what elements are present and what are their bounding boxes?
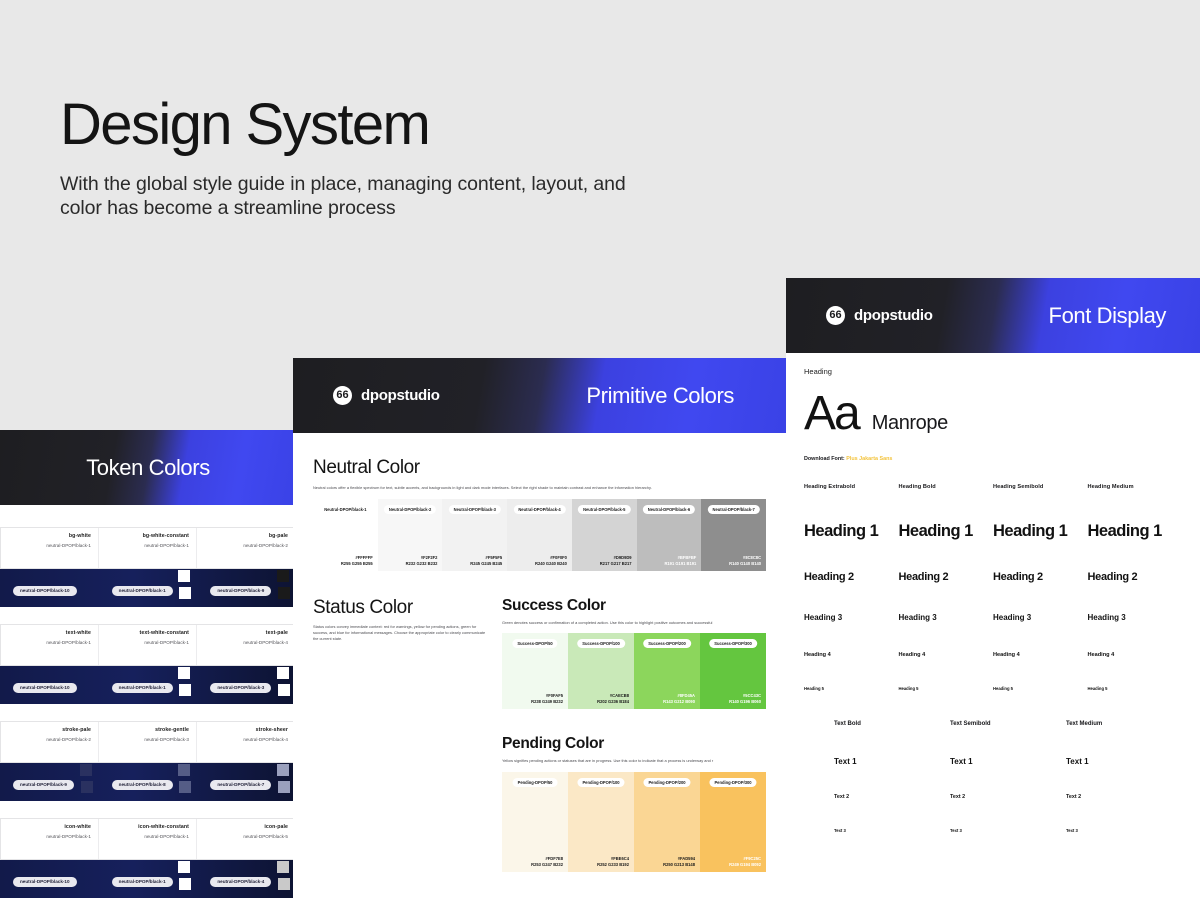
text-weight-label: Text Semibold (950, 721, 1066, 727)
swatch-values: #F0F0F0R240 G240 B240 (535, 555, 567, 567)
text-sample: Text 3 (1066, 828, 1182, 833)
success-color-desc: Green denotes success or confirmation of… (502, 620, 766, 626)
token-name: stroke-sheer (204, 727, 288, 733)
heading-type-grid: Heading ExtraboldHeading 1Heading 2Headi… (804, 484, 1182, 691)
success-swatch-row: Success-DPOP/50#F0FAF5R238 G249 B232Succ… (502, 633, 766, 709)
heading-sample: Heading 5 (993, 686, 1088, 691)
token-swatch[interactable]: stroke-paleneutral-DPOP/black-2 (1, 722, 99, 762)
color-swatch[interactable]: Pending-DPOP/300#F9C25CR249 G194 B092 (700, 772, 766, 872)
swatch-label: Neutral-DPOP/black-4 (513, 505, 565, 514)
swatch-rgb: R140 G140 B140 (729, 561, 761, 567)
token-name: bg-white-constant (106, 533, 189, 539)
neutral-color-desc: Neutral colors offer a flexible spectrum… (313, 485, 766, 491)
token-pill: neutral-DPOP/black-1 (112, 877, 173, 887)
token-pill: neutral-DPOP/black-8 (112, 780, 173, 790)
swatch-label: Success-DPOP/50 (512, 639, 557, 648)
token-name: icon-white (8, 824, 91, 830)
swatch-label: Neutral-DPOP/black-2 (384, 505, 436, 514)
swatch-label: Pending-DPOP/50 (513, 778, 558, 787)
text-sample: Text 3 (950, 828, 1066, 833)
token-reference: neutral-DPOP/black-5 (204, 834, 288, 839)
token-reference: neutral-DPOP/black-1 (8, 640, 91, 645)
color-swatch[interactable]: Success-DPOP/100#CAECB8R202 G236 B184 (568, 633, 634, 709)
primitive-panel-title: Primitive Colors (586, 383, 734, 409)
token-pill: neutral-DPOP/black-9 (13, 780, 74, 790)
font-kicker: Heading (804, 367, 1182, 376)
color-swatch[interactable]: Neutral-DPOP/black-4#F0F0F0R240 G240 B24… (507, 499, 572, 571)
swatch-rgb: R245 G245 B245 (470, 561, 502, 567)
token-reference: neutral-DPOP/black-1 (8, 834, 91, 839)
token-swatch-dark[interactable]: neutral-DPOP/black-9 (0, 768, 99, 796)
swatch-rgb: R232 G232 B232 (406, 561, 438, 567)
token-name: stroke-gentle (106, 727, 189, 733)
token-name: stroke-pale (8, 727, 91, 733)
status-color-title: Status Color (313, 597, 488, 619)
token-panel-title: Token Colors (86, 455, 210, 481)
swatch-label: Success-DPOP/100 (577, 639, 625, 648)
status-color-desc: Status colors convey immediate context: … (313, 624, 488, 642)
swatch-rgb: R252 G233 B192 (597, 862, 629, 868)
brand-name: dpopstudio (361, 387, 440, 404)
text-sample: Text 2 (1066, 794, 1182, 800)
heading-sample: Heading 3 (899, 613, 994, 622)
quote-icon: 66 (826, 306, 845, 325)
swatch-values: #CAECB8R202 G236 B184 (597, 693, 629, 705)
swatch-values: #F0FAF5R238 G249 B232 (531, 693, 563, 705)
swatch-rgb: R255 G255 B255 (341, 561, 373, 567)
heading-sample: Heading 1 (899, 522, 994, 541)
heading-weight-label: Heading Medium (1088, 484, 1183, 490)
swatch-rgb: R240 G240 B240 (535, 561, 567, 567)
swatch-rgb: R250 G213 B148 (663, 862, 695, 868)
token-name: bg-white (8, 533, 91, 539)
pending-color-desc: Yellow signifies pending actions or stat… (502, 758, 766, 764)
token-swatch[interactable]: stroke-gentleneutral-DPOP/black-3 (99, 722, 197, 762)
token-row-dark: neutral-DPOP/black-10neutral-DPOP/black-… (0, 666, 296, 704)
success-color-title: Success Color (502, 597, 766, 615)
token-group: stroke-paleneutral-DPOP/black-2stroke-ge… (0, 721, 296, 801)
color-swatch[interactable]: Neutral-DPOP/black-7#8C8C8CR140 G140 B14… (701, 499, 766, 571)
token-group-list: bg-whiteneutral-DPOP/black-1bg-white-con… (0, 505, 296, 898)
swatch-values: #F5F5F5R245 G245 B245 (470, 555, 502, 567)
swatch-values: #BFBFBFR191 G191 B191 (664, 555, 696, 567)
heading-sample: Heading 2 (899, 571, 994, 583)
text-sample: Text 2 (834, 794, 950, 800)
token-swatch-dark[interactable]: neutral-DPOP/black-7 (197, 768, 296, 796)
swatch-label: Pending-DPOP/100 (577, 778, 624, 787)
token-group: bg-whiteneutral-DPOP/black-1bg-white-con… (0, 527, 296, 607)
token-row-dark: neutral-DPOP/black-9neutral-DPOP/black-8… (0, 763, 296, 801)
token-swatch-dark[interactable]: neutral-DPOP/black-4 (197, 865, 296, 893)
download-font-row: Download Font: Plus Jakarta Sans (804, 456, 1182, 462)
primitive-panel-header: 66 dpopstudio Primitive Colors (293, 358, 786, 433)
heading-weight-label: Heading Extrabold (804, 484, 899, 490)
heading-sample: Heading 4 (1088, 652, 1183, 658)
token-chip (179, 878, 191, 890)
token-name: icon-white-constant (106, 824, 189, 830)
swatch-label: Neutral-DPOP/black-1 (319, 505, 371, 514)
color-swatch[interactable]: Neutral-DPOP/black-5#D9D9D9R217 G217 B21… (572, 499, 637, 571)
hero-block: Design System With the global style guid… (60, 95, 720, 221)
token-row-light: stroke-paleneutral-DPOP/black-2stroke-ge… (0, 721, 296, 763)
token-reference: neutral-DPOP/black-2 (204, 543, 288, 548)
token-row-dark: neutral-DPOP/black-10neutral-DPOP/black-… (0, 860, 296, 898)
heading-type-column: Heading MediumHeading 1Heading 2Heading … (1088, 484, 1183, 691)
swatch-label: Pending-DPOP/200 (643, 778, 690, 787)
token-reference: neutral-DPOP/black-1 (106, 640, 189, 645)
token-swatch[interactable]: stroke-sheerneutral-DPOP/black-4 (197, 722, 295, 762)
text-sample: Text 1 (950, 757, 1066, 766)
panel-font-display: 66 dpopstudio Font Display Heading Aa Ma… (786, 278, 1200, 907)
swatch-values: #FFFFFFR255 G255 B255 (341, 555, 373, 567)
swatch-rgb: R202 G236 B184 (597, 699, 629, 705)
token-pill: neutral-DPOP/black-9 (210, 586, 271, 596)
brand-name: dpopstudio (854, 307, 933, 324)
swatch-values: #5CC43CR140 G196 B060 (729, 693, 761, 705)
token-row-dark: neutral-DPOP/black-10neutral-DPOP/black-… (0, 569, 296, 607)
token-reference: neutral-DPOP/black-1 (106, 834, 189, 839)
token-swatch-dark[interactable]: neutral-DPOP/black-1 (99, 671, 198, 699)
heading-type-column: Heading ExtraboldHeading 1Heading 2Headi… (804, 484, 899, 691)
download-font-link[interactable]: Plus Jakarta Sans (846, 456, 892, 462)
token-swatch-dark[interactable]: neutral-DPOP/black-10 (0, 865, 99, 893)
color-swatch[interactable]: Pending-DPOP/200#FAD594R250 G213 B148 (634, 772, 700, 872)
swatch-values: #8FD45AR143 G212 B090 (663, 693, 695, 705)
token-chip (278, 684, 290, 696)
token-group: text-whiteneutral-DPOP/black-1text-white… (0, 624, 296, 704)
heading-sample: Heading 4 (993, 652, 1088, 658)
font-specimen: Aa Manrope (804, 390, 1182, 438)
token-swatch-dark[interactable]: neutral-DPOP/black-10 (0, 671, 99, 699)
pending-color-title: Pending Color (502, 735, 766, 753)
swatch-rgb: R140 G196 B060 (729, 699, 761, 705)
color-swatch[interactable]: Neutral-DPOP/black-2#F2F2F2R232 G232 B23… (378, 499, 443, 571)
swatch-label: Neutral-DPOP/black-6 (643, 505, 695, 514)
swatch-values: #FAD594R250 G213 B148 (663, 856, 695, 868)
heading-sample: Heading 5 (804, 686, 899, 691)
swatch-label: Success-DPOP/300 (709, 639, 757, 648)
swatch-rgb: R238 G249 B232 (531, 699, 563, 705)
token-chip (179, 781, 191, 793)
swatch-label: Neutral-DPOP/black-5 (578, 505, 630, 514)
token-swatch[interactable]: text-whiteneutral-DPOP/black-1 (1, 625, 99, 665)
token-reference: neutral-DPOP/black-2 (8, 737, 91, 742)
token-chip (278, 781, 290, 793)
color-swatch[interactable]: Pending-DPOP/50#FDF7E8R253 G247 B232 (502, 772, 568, 872)
swatch-rgb: R217 G217 B217 (600, 561, 632, 567)
token-name: text-white-constant (106, 630, 189, 636)
token-swatch-dark[interactable]: neutral-DPOP/black-1 (99, 574, 198, 602)
color-swatch[interactable]: Neutral-DPOP/black-3#F5F5F5R245 G245 B24… (442, 499, 507, 571)
font-glyph: Aa (804, 390, 859, 438)
brand-logo: 66 dpopstudio (333, 386, 440, 405)
heading-sample: Heading 1 (804, 522, 899, 541)
page-title: Design System (60, 95, 720, 156)
font-panel-header: 66 dpopstudio Font Display (786, 278, 1200, 353)
text-type-column: Text MediumText 1Text 2Text 3 (1066, 721, 1182, 833)
token-name: bg-pale (204, 533, 288, 539)
token-reference: neutral-DPOP/black-3 (106, 737, 189, 742)
token-reference: neutral-DPOP/black-1 (8, 543, 91, 548)
token-row-light: icon-whiteneutral-DPOP/black-1icon-white… (0, 818, 296, 860)
heading-sample: Heading 3 (1088, 613, 1183, 622)
color-swatch[interactable]: Success-DPOP/50#F0FAF5R238 G249 B232 (502, 633, 568, 709)
token-name: text-white (8, 630, 91, 636)
token-pill: neutral-DPOP/black-1 (112, 586, 173, 596)
text-type-column: Text SemiboldText 1Text 2Text 3 (950, 721, 1066, 833)
color-swatch[interactable]: Success-DPOP/300#5CC43CR140 G196 B060 (700, 633, 766, 709)
token-chip (278, 587, 290, 599)
heading-sample: Heading 2 (1088, 571, 1183, 583)
token-swatch[interactable]: bg-white-constantneutral-DPOP/black-1 (99, 528, 197, 568)
text-sample: Text 1 (834, 757, 950, 766)
swatch-values: #F2F2F2R232 G232 B232 (406, 555, 438, 567)
swatch-rgb: R143 G212 B090 (663, 699, 695, 705)
token-swatch-dark[interactable]: neutral-DPOP/black-1 (99, 865, 198, 893)
token-pill: neutral-DPOP/black-10 (13, 586, 77, 596)
swatch-values: #F9C25CR249 G194 B092 (729, 856, 761, 868)
swatch-values: #D9D9D9R217 G217 B217 (600, 555, 632, 567)
download-font-label: Download Font: (804, 456, 845, 462)
token-swatch-dark[interactable]: neutral-DPOP/black-8 (99, 768, 198, 796)
swatch-label: Success-DPOP/200 (643, 639, 691, 648)
token-panel-header: Token Colors (0, 430, 296, 505)
heading-weight-label: Heading Bold (899, 484, 994, 490)
text-weight-label: Text Medium (1066, 721, 1182, 727)
color-swatch[interactable]: Pending-DPOP/100#FBE6C4R252 G233 B192 (568, 772, 634, 872)
text-weight-label: Text Bold (834, 721, 950, 727)
font-panel-title: Font Display (1049, 303, 1166, 329)
token-reference: neutral-DPOP/black-4 (204, 737, 288, 742)
pending-swatch-row: Pending-DPOP/50#FDF7E8R253 G247 B232Pend… (502, 772, 766, 872)
quote-icon: 66 (333, 386, 352, 405)
token-row-light: text-whiteneutral-DPOP/black-1text-white… (0, 624, 296, 666)
token-swatch[interactable]: bg-paleneutral-DPOP/black-2 (197, 528, 295, 568)
token-row-light: bg-whiteneutral-DPOP/black-1bg-white-con… (0, 527, 296, 569)
heading-sample: Heading 4 (804, 652, 899, 658)
heading-sample: Heading 2 (993, 571, 1088, 583)
token-name: icon-pale (204, 824, 288, 830)
token-pill: neutral-DPOP/black-7 (210, 780, 271, 790)
token-reference: neutral-DPOP/black-4 (204, 640, 288, 645)
color-swatch[interactable]: Neutral-DPOP/black-6#BFBFBFR191 G191 B19… (637, 499, 702, 571)
brand-logo: 66 dpopstudio (826, 306, 933, 325)
text-type-grid: Text BoldText 1Text 2Text 3Text Semibold… (804, 721, 1182, 833)
heading-sample: Heading 5 (899, 686, 994, 691)
heading-type-column: Heading BoldHeading 1Heading 2Heading 3H… (899, 484, 994, 691)
token-swatch[interactable]: icon-white-constantneutral-DPOP/black-1 (99, 819, 197, 859)
heading-type-column: Heading SemiboldHeading 1Heading 2Headin… (993, 484, 1088, 691)
swatch-values: #FBE6C4R252 G233 B192 (597, 856, 629, 868)
token-group: icon-whiteneutral-DPOP/black-1icon-white… (0, 818, 296, 898)
text-sample: Text 2 (950, 794, 1066, 800)
token-chip (179, 684, 191, 696)
token-pill: neutral-DPOP/black-4 (210, 877, 271, 887)
swatch-label: Neutral-DPOP/black-3 (449, 505, 501, 514)
swatch-rgb: R253 G247 B232 (531, 862, 563, 868)
neutral-color-title: Neutral Color (313, 457, 766, 479)
heading-sample: Heading 4 (899, 652, 994, 658)
token-pill: neutral-DPOP/black-10 (13, 877, 77, 887)
token-swatch-dark[interactable]: neutral-DPOP/black-3 (197, 671, 296, 699)
swatch-values: #FDF7E8R253 G247 B232 (531, 856, 563, 868)
panel-primitive-colors: 66 dpopstudio Primitive Colors Neutral C… (293, 358, 786, 907)
heading-sample: Heading 1 (1088, 522, 1183, 541)
swatch-label: Pending-DPOP/300 (709, 778, 756, 787)
token-swatch[interactable]: icon-paleneutral-DPOP/black-5 (197, 819, 295, 859)
heading-sample: Heading 1 (993, 522, 1088, 541)
color-swatch[interactable]: Success-DPOP/200#8FD45AR143 G212 B090 (634, 633, 700, 709)
token-swatch-dark[interactable]: neutral-DPOP/black-10 (0, 574, 99, 602)
swatch-rgb: R249 G194 B092 (729, 862, 761, 868)
token-pill: neutral-DPOP/black-1 (112, 683, 173, 693)
token-chip (278, 878, 290, 890)
swatch-values: #8C8C8CR140 G140 B140 (729, 555, 761, 567)
token-swatch[interactable]: text-white-constantneutral-DPOP/black-1 (99, 625, 197, 665)
color-swatch[interactable]: Neutral-DPOP/black-1#FFFFFFR255 G255 B25… (313, 499, 378, 571)
swatch-label: Neutral-DPOP/black-7 (708, 505, 760, 514)
token-reference: neutral-DPOP/black-1 (106, 543, 189, 548)
token-pill: neutral-DPOP/black-10 (13, 683, 77, 693)
neutral-swatch-row: Neutral-DPOP/black-1#FFFFFFR255 G255 B25… (313, 499, 766, 571)
text-sample: Text 1 (1066, 757, 1182, 766)
text-sample: Text 3 (834, 828, 950, 833)
heading-sample: Heading 3 (804, 613, 899, 622)
token-chip (179, 587, 191, 599)
token-swatch[interactable]: text-paleneutral-DPOP/black-4 (197, 625, 295, 665)
heading-weight-label: Heading Semibold (993, 484, 1088, 490)
heading-sample: Heading 5 (1088, 686, 1183, 691)
panel-token-colors: Token Colors bg-whiteneutral-DPOP/black-… (0, 430, 296, 907)
token-pill: neutral-DPOP/black-3 (210, 683, 271, 693)
token-swatch-dark[interactable]: neutral-DPOP/black-9 (197, 574, 296, 602)
swatch-rgb: R191 G191 B191 (664, 561, 696, 567)
heading-sample: Heading 2 (804, 571, 899, 583)
token-swatch[interactable]: icon-whiteneutral-DPOP/black-1 (1, 819, 99, 859)
token-name: text-pale (204, 630, 288, 636)
page-subtitle: With the global style guide in place, ma… (60, 172, 660, 221)
font-family-name: Manrope (872, 412, 948, 435)
heading-sample: Heading 3 (993, 613, 1088, 622)
token-chip (81, 781, 93, 793)
token-swatch[interactable]: bg-whiteneutral-DPOP/black-1 (1, 528, 99, 568)
text-type-column: Text BoldText 1Text 2Text 3 (834, 721, 950, 833)
